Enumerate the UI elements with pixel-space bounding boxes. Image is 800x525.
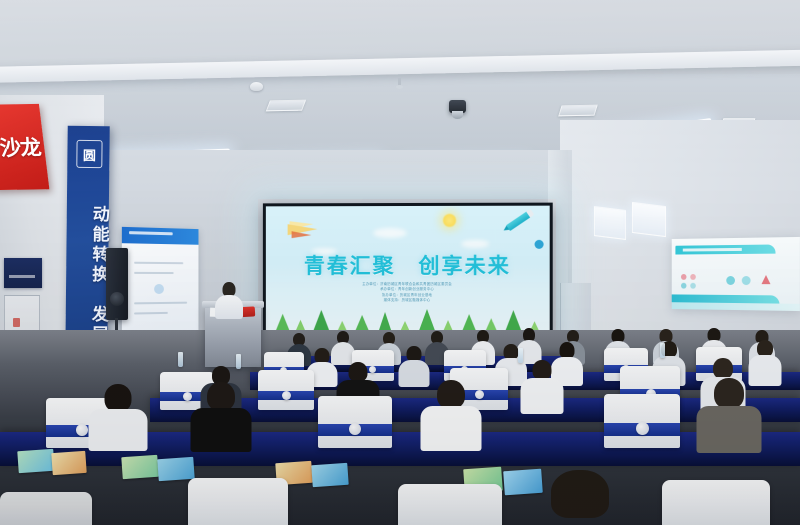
paper-plane-icon	[288, 220, 326, 240]
banner-logo-text: 圆	[83, 144, 96, 163]
slide-main-title: 青春汇聚 创享未来	[266, 250, 550, 280]
cloud-icon	[373, 228, 407, 238]
clerestory-window	[632, 202, 666, 237]
conference-hall-photo: 沙龙 圆 动能转换 发展风口产业	[0, 0, 800, 525]
brochure	[121, 455, 158, 479]
water-bottle	[178, 352, 183, 367]
presenter	[213, 282, 245, 316]
slide-subtitle: 主办单位：济南历城区青年联合会和共青团历城区委员会 承办单位：青年创新创业服务中…	[307, 282, 507, 303]
brochure	[51, 451, 86, 475]
pa-speaker	[106, 248, 128, 320]
banner-logo-icon: 圆	[76, 140, 102, 168]
audience-member	[520, 360, 564, 412]
audience-member	[190, 382, 252, 448]
display-header-bar	[675, 244, 775, 254]
display-icon	[742, 276, 751, 285]
chair	[604, 394, 680, 448]
wall-direction-sign	[4, 258, 42, 288]
main-projection-screen: 青春汇聚 创享未来 主办单位：济南历城区青年联合会和共青团历城区委员会 承办单位…	[263, 203, 553, 340]
display-icon	[726, 276, 735, 285]
brochure	[17, 449, 54, 473]
brochure	[311, 463, 348, 487]
display-icon-grid	[681, 274, 702, 290]
brochure	[157, 457, 194, 481]
sun-icon	[443, 214, 456, 227]
clerestory-window	[594, 206, 626, 240]
wall-mounted-display	[672, 237, 800, 311]
ac-vent	[266, 100, 307, 112]
chair	[662, 480, 770, 525]
audience-member	[520, 470, 640, 525]
audience-member	[420, 380, 482, 448]
chair	[318, 396, 392, 448]
red-banner-text: 沙龙	[0, 132, 42, 162]
ac-vent	[558, 105, 598, 117]
chair	[398, 484, 502, 525]
pencil-icon	[501, 207, 536, 236]
cloud-icon	[461, 240, 489, 248]
display-icon	[762, 275, 771, 284]
audience-member	[88, 384, 148, 448]
smoke-detector-icon	[250, 82, 263, 91]
chair	[258, 370, 314, 410]
poster-header-bar	[122, 227, 199, 245]
audience-member	[398, 346, 430, 384]
chair	[0, 492, 92, 525]
audience-member	[696, 378, 762, 450]
wall-poster-board	[122, 227, 199, 333]
water-bottle	[660, 343, 665, 358]
chair	[188, 478, 288, 525]
slide-canvas: 青春汇聚 创享未来 主办单位：济南历城区青年联合会和共青团历城区委员会 承办单位…	[266, 206, 550, 337]
sprinkler-icon	[398, 78, 401, 87]
cctv-camera-icon	[449, 100, 466, 113]
circle-logo-icon	[535, 240, 544, 249]
